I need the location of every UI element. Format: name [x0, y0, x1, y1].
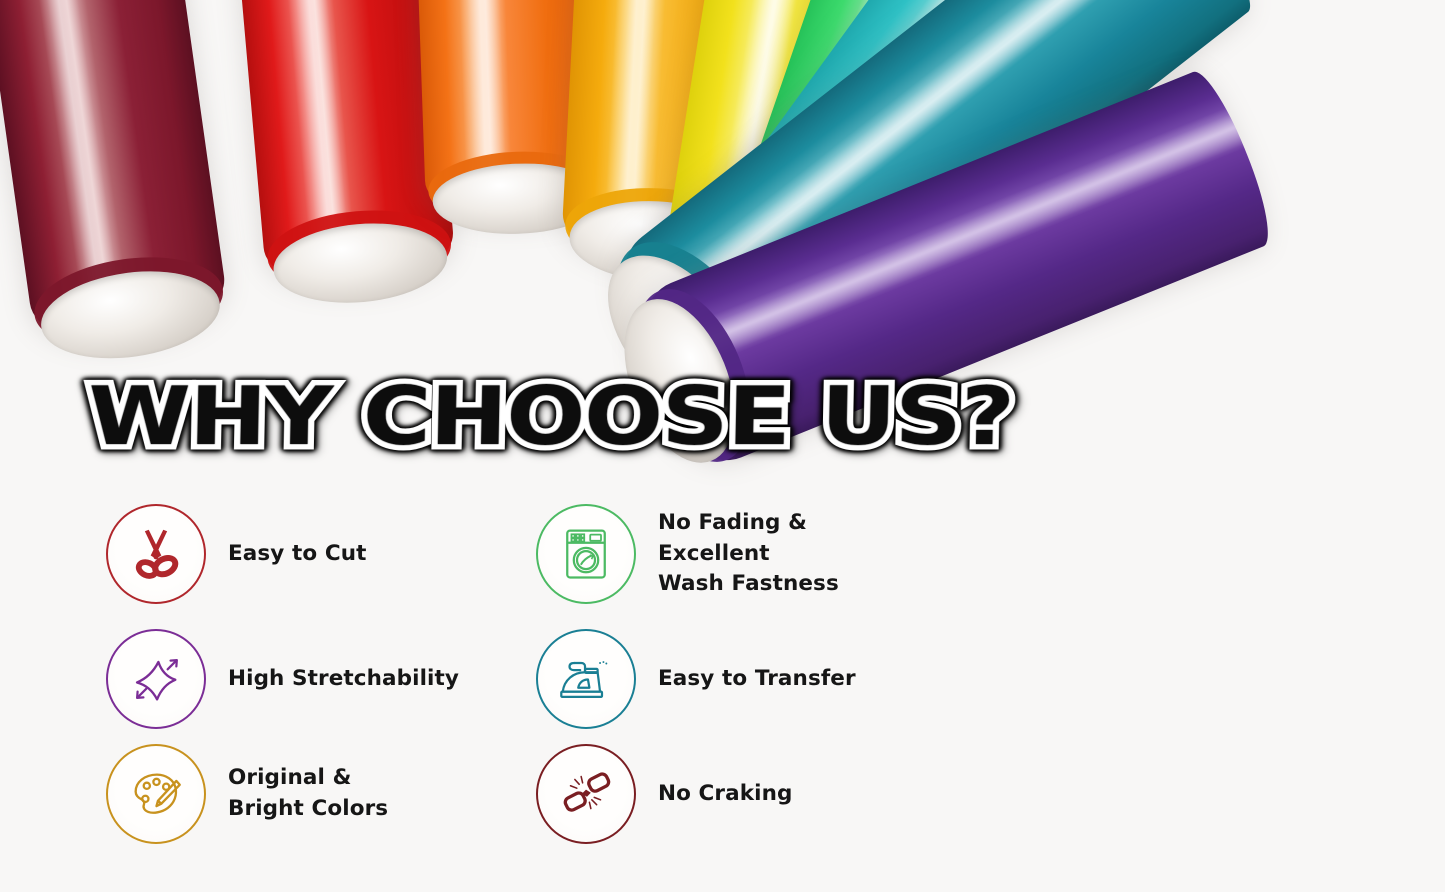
vinyl-roll-yellow [657, 0, 943, 332]
sparkle-stretch-icon [106, 629, 206, 729]
feature-row: Easy to Cut [106, 492, 1006, 616]
vinyl-roll-teal [592, 0, 1264, 430]
vinyl-roll-green [691, 0, 1098, 412]
vinyl-roll-amber [560, 0, 777, 270]
why-choose-us-banner: WHY CHOOSE US? Ea [0, 0, 1445, 892]
washing-machine-icon [536, 504, 636, 604]
feature-label: No Fading & Excellent Wash Fastness [658, 508, 839, 600]
feature-label: Easy to Transfer [658, 664, 856, 695]
broken-chain-link-icon [536, 744, 636, 844]
vinyl-roll-maroon [0, 0, 231, 353]
feature-row: High Stretchability [106, 616, 1006, 742]
paint-palette-icon [106, 744, 206, 844]
feature-easy-to-cut: Easy to Cut [106, 492, 536, 616]
feature-easy-to-transfer: Easy to Transfer [536, 616, 966, 742]
feature-label: High Stretchability [228, 664, 459, 695]
feature-no-fading: No Fading & Excellent Wash Fastness [536, 492, 966, 616]
page-title-text: WHY CHOOSE US? [87, 377, 1014, 457]
feature-label: Easy to Cut [228, 539, 367, 570]
iron-icon [536, 629, 636, 729]
feature-list: Easy to Cut [106, 492, 1006, 846]
feature-high-stretchability: High Stretchability [106, 616, 536, 742]
feature-original-bright-colors: Original & Bright Colors [106, 742, 536, 846]
vinyl-roll-red [222, 0, 457, 294]
feature-label: Original & Bright Colors [228, 763, 388, 824]
feature-no-craking: No Craking [536, 742, 966, 846]
scissors-icon [106, 504, 206, 604]
feature-label: No Craking [658, 779, 793, 810]
page-title: WHY CHOOSE US? [88, 369, 888, 465]
feature-row: Original & Bright Colors [106, 742, 1006, 846]
vinyl-roll-orange [410, 0, 611, 223]
